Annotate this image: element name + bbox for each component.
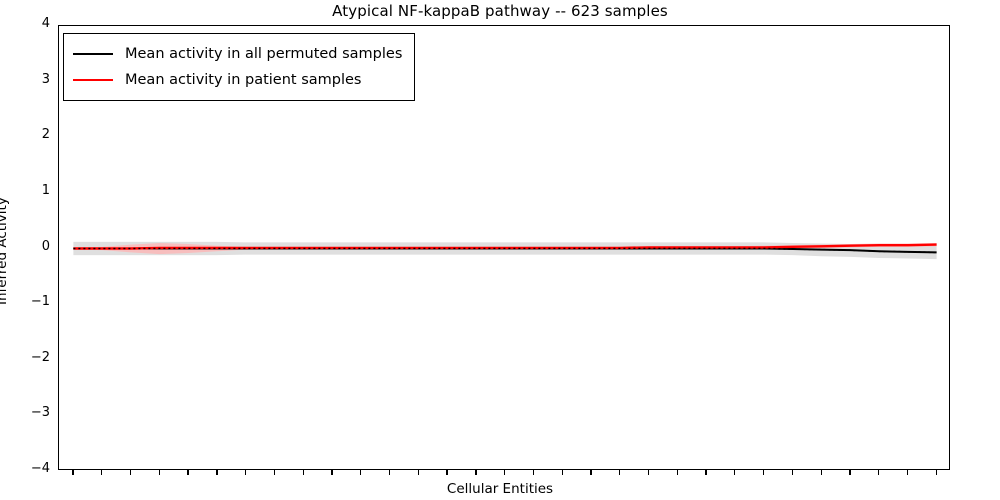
x-tick-mark <box>101 470 102 475</box>
x-tick-mark <box>331 470 332 475</box>
x-tick-mark <box>619 470 620 475</box>
x-tick-mark <box>187 470 188 475</box>
x-tick-mark <box>677 470 678 475</box>
x-tick-mark <box>849 470 850 475</box>
x-tick-mark <box>936 470 937 475</box>
x-tick-mark <box>245 470 246 475</box>
x-tick-mark <box>130 470 131 475</box>
plot-axes: Mean activity in all permuted samplesMea… <box>58 25 950 470</box>
x-tick-mark <box>274 470 275 475</box>
x-tick-mark <box>562 470 563 475</box>
x-tick-mark <box>648 470 649 475</box>
legend-item[interactable]: Mean activity in all permuted samples <box>73 41 402 67</box>
x-tick-mark <box>72 470 73 475</box>
legend-swatch-line <box>73 79 113 81</box>
legend-label: Mean activity in patient samples <box>125 72 361 88</box>
legend-label: Mean activity in all permuted samples <box>125 46 402 62</box>
x-tick-mark <box>303 470 304 475</box>
x-tick-mark <box>446 470 447 475</box>
y-tick-label: −2 <box>4 350 50 365</box>
x-tick-mark <box>734 470 735 475</box>
y-tick-label: 1 <box>4 183 50 198</box>
y-tick-label: 3 <box>4 72 50 87</box>
y-tick-label: −3 <box>4 405 50 420</box>
x-tick-mark <box>418 470 419 475</box>
x-tick-mark <box>389 470 390 475</box>
legend[interactable]: Mean activity in all permuted samplesMea… <box>63 33 415 101</box>
x-tick-mark <box>533 470 534 475</box>
y-tick-label: 0 <box>4 239 50 254</box>
x-axis-label: Cellular Entities <box>0 481 1000 497</box>
chart-title: Atypical NF-kappaB pathway -- 623 sample… <box>0 2 1000 20</box>
x-tick-mark <box>907 470 908 475</box>
y-tick-label: −4 <box>4 461 50 476</box>
x-tick-mark <box>216 470 217 475</box>
x-tick-mark <box>504 470 505 475</box>
legend-item[interactable]: Mean activity in patient samples <box>73 67 402 93</box>
y-tick-label: 4 <box>4 16 50 31</box>
x-tick-mark <box>763 470 764 475</box>
x-tick-mark <box>792 470 793 475</box>
x-tick-mark <box>821 470 822 475</box>
x-tick-mark <box>878 470 879 475</box>
x-tick-mark <box>590 470 591 475</box>
x-tick-mark <box>475 470 476 475</box>
x-tick-mark <box>705 470 706 475</box>
y-tick-label: −1 <box>4 294 50 309</box>
x-tick-mark <box>159 470 160 475</box>
x-tick-mark <box>360 470 361 475</box>
figure: Atypical NF-kappaB pathway -- 623 sample… <box>0 0 1000 500</box>
legend-swatch-line <box>73 53 113 55</box>
y-tick-label: 2 <box>4 127 50 142</box>
